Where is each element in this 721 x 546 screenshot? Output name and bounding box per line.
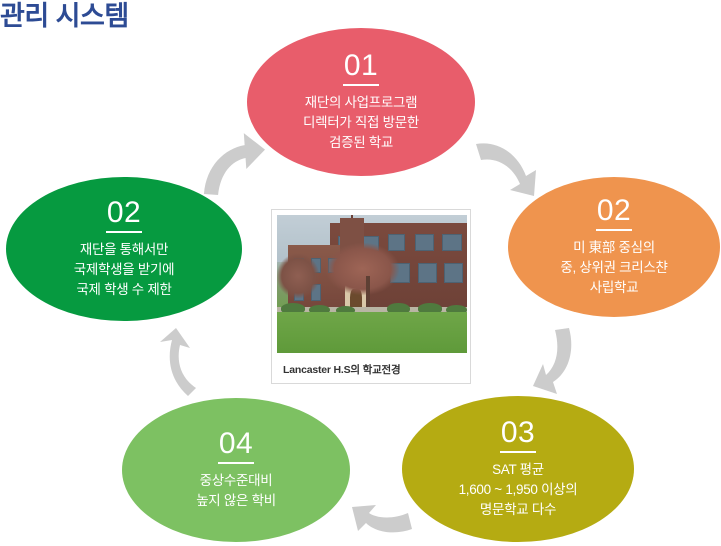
node-01-number: 01 [344, 51, 378, 86]
node-02-number: 02 [597, 196, 631, 231]
photo-lawn [277, 312, 467, 353]
node-01-text: 재단의 사업프로그램 디렉터가 직접 방문한 검증된 학교 [303, 93, 419, 154]
circle-node-01[interactable]: 01 재단의 사업프로그램 디렉터가 직접 방문한 검증된 학교 [247, 28, 475, 176]
arrow-down-left-icon [527, 324, 589, 398]
photo-caption: Lancaster H.S의 학교전경 [277, 353, 465, 377]
node-01-line-1: 재단의 사업프로그램 [303, 93, 419, 113]
node-02-line-3: 사립학교 [560, 278, 667, 298]
node-02-text: 미 東部 중심의 중, 상위권 크리스챤 사립학교 [560, 238, 667, 299]
node-02-line-1: 미 東部 중심의 [560, 238, 667, 258]
node-03-line-3: 명문학교 다수 [459, 500, 578, 520]
arrow-left-icon [340, 485, 416, 537]
center-photo-card: Lancaster H.S의 학교전경 [271, 209, 471, 384]
node-05-line-3: 국제 학생 수 제한 [74, 280, 174, 300]
photo-tree-canopy [326, 243, 398, 295]
arrow-up-right-icon [196, 132, 268, 198]
circle-node-03[interactable]: 03 SAT 평균 1,600 ~ 1,950 이상의 명문학교 다수 [402, 396, 634, 542]
page-title: 관리 시스템 [0, 0, 129, 33]
node-02-line-2: 중, 상위권 크리스챤 [560, 258, 667, 278]
photo-tree-left [277, 254, 319, 298]
arrow-up-icon [150, 326, 210, 400]
node-04-line-1: 중상수준대비 [196, 471, 276, 491]
node-03-line-2: 1,600 ~ 1,950 이상의 [459, 480, 578, 500]
node-05-number: 02 [107, 198, 141, 233]
node-05-text: 재단을 통해서만 국제학생을 받기에 국제 학생 수 제한 [74, 240, 174, 301]
node-01-line-3: 검증된 학교 [303, 133, 419, 153]
node-04-text: 중상수준대비 높지 않은 학비 [196, 471, 276, 512]
node-01-line-2: 디렉터가 직접 방문한 [303, 113, 419, 133]
node-04-line-2: 높지 않은 학비 [196, 491, 276, 511]
diagram-canvas: 관리 시스템 01 재단의 사업프로그램 디렉터가 직접 방문한 검증된 학교 … [0, 0, 721, 546]
node-03-number: 03 [501, 418, 535, 453]
node-04-number: 04 [219, 429, 253, 464]
circle-node-05[interactable]: 02 재단을 통해서만 국제학생을 받기에 국제 학생 수 제한 [6, 177, 242, 321]
circle-node-04[interactable]: 04 중상수준대비 높지 않은 학비 [122, 398, 350, 542]
school-building-photo [277, 215, 467, 353]
node-03-line-1: SAT 평균 [459, 460, 578, 480]
node-03-text: SAT 평균 1,600 ~ 1,950 이상의 명문학교 다수 [459, 460, 578, 521]
node-05-line-1: 재단을 통해서만 [74, 240, 174, 260]
node-05-line-2: 국제학생을 받기에 [74, 260, 174, 280]
arrow-down-right-icon [472, 134, 544, 202]
